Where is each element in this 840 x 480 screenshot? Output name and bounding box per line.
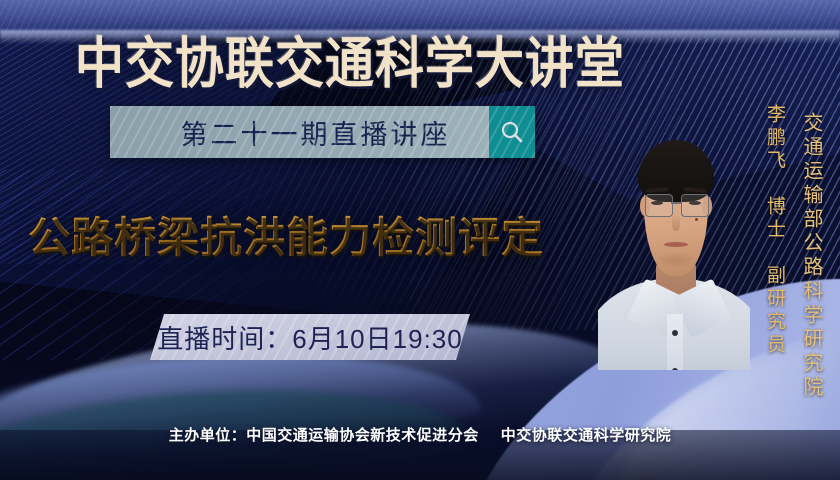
search-button[interactable] [489,106,535,158]
lecture-topic-title: 公路桥梁抗洪能力检测评定 [28,204,544,265]
portrait-hair [638,140,714,202]
speaker-portrait [598,118,750,370]
portrait-shirt-button [672,330,678,336]
portrait-mole [695,218,698,221]
speaker-organization: 交通运输部公路科学研究院 [797,112,826,400]
portrait-nose [672,213,680,231]
organizer-name-1: 中国交通运输协会新技术促进分会 [246,427,479,444]
speaker-name-title: 李鹏飞 博士 副研究员 [761,104,788,357]
organizer-footer: 主办单位：中国交通运输协会新技术促进分会中交协联交通科学研究院 [0,424,840,445]
page-title: 中交协联交通科学大讲堂 [0,20,700,100]
broadcast-time-text: 直播时间：6月10日19:30 [157,319,462,356]
glasses-lens-right [681,194,709,217]
portrait-chin-shading [654,252,698,268]
portrait-mouth [664,242,688,247]
episode-label: 第二十一期直播讲座 [110,113,489,152]
episode-banner: 第二十一期直播讲座 [110,106,535,158]
organizer-name-2: 中交协联交通科学研究院 [501,427,672,444]
glasses-lens-left [645,194,673,217]
glasses-bridge [671,202,681,204]
organizer-prefix: 主办单位： [169,427,247,444]
portrait-shirt-button [672,368,678,370]
search-icon [499,119,525,145]
portrait-shirt-placket [667,314,683,370]
poster-canvas: 中交协联交通科学大讲堂 第二十一期直播讲座 公路桥梁抗洪能力检测评定 直播时间：… [0,0,840,480]
broadcast-time-banner: 直播时间：6月10日19:30 [150,314,470,360]
